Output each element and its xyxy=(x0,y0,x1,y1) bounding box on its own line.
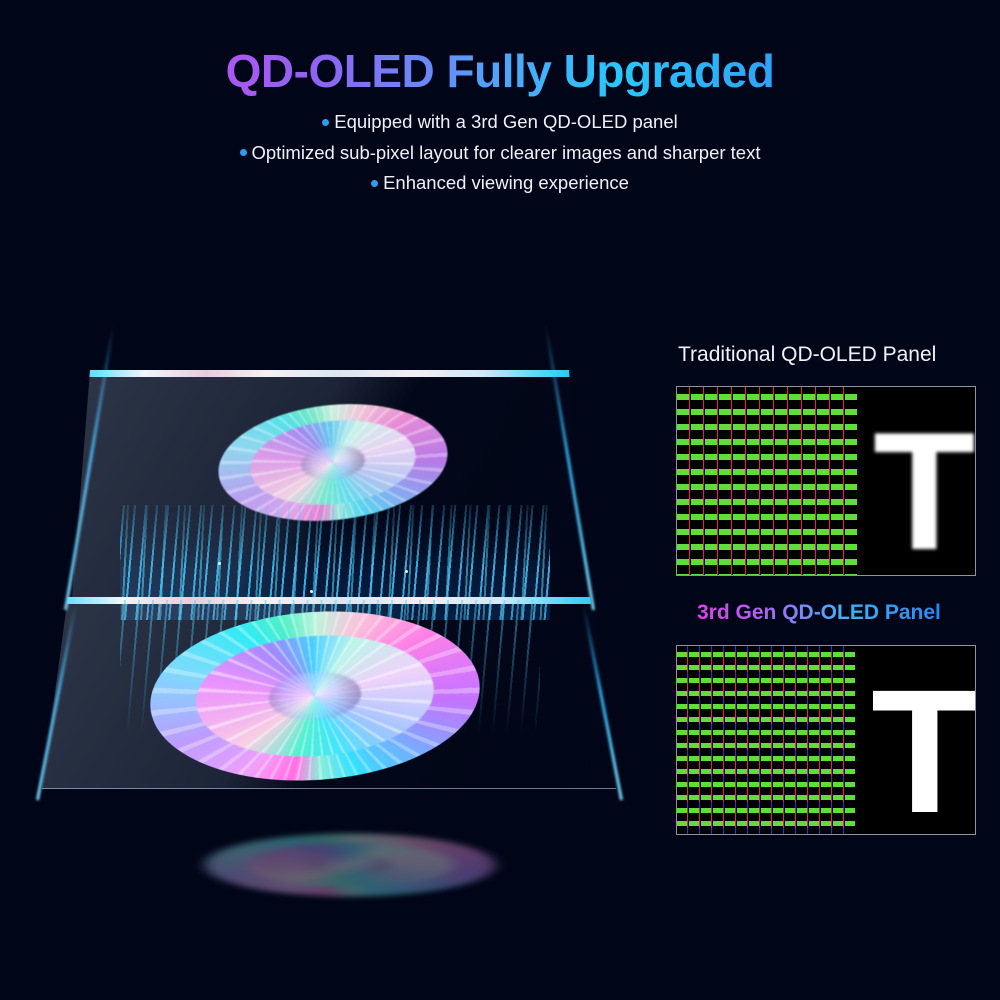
third-gen-panel-label: 3rd Gen QD-OLED Panel xyxy=(697,601,941,625)
screen-bottom-edge xyxy=(42,788,616,789)
traditional-subpixel-green-row xyxy=(677,387,857,575)
bullet-dot-icon xyxy=(322,119,329,126)
screen-top-bezel xyxy=(72,370,587,377)
traditional-panel: T xyxy=(676,386,976,576)
promo-image: QD-OLED Fully Upgraded Equipped with a 3… xyxy=(0,0,1000,1000)
header: QD-OLED Fully Upgraded Equipped with a 3… xyxy=(0,0,1000,193)
traditional-panel-label: Traditional QD-OLED Panel xyxy=(678,343,936,367)
sparkle-dot xyxy=(218,562,221,565)
feature-bullet-text: Enhanced viewing experience xyxy=(383,172,629,193)
feature-bullet: Optimized sub-pixel layout for clearer i… xyxy=(0,132,1000,163)
flower-reflection xyxy=(205,834,495,897)
monitor-illustration xyxy=(0,300,660,920)
third-gen-panel: T xyxy=(676,645,976,835)
feature-bullet: Equipped with a 3rd Gen QD-OLED panel xyxy=(0,98,1000,132)
feature-bullet-text: Equipped with a 3rd Gen QD-OLED panel xyxy=(334,111,677,132)
bullet-dot-icon xyxy=(371,180,378,187)
sparkle-dot xyxy=(310,590,313,593)
third-gen-letter-t: T xyxy=(871,664,976,835)
feature-bullet: Enhanced viewing experience xyxy=(0,162,1000,193)
bullet-dot-icon xyxy=(240,149,247,156)
third-gen-subpixel-green-row xyxy=(677,646,855,834)
sparkle-dot xyxy=(405,570,408,573)
page-title: QD-OLED Fully Upgraded xyxy=(0,0,1000,98)
feature-bullet-text: Optimized sub-pixel layout for clearer i… xyxy=(252,142,761,163)
traditional-letter-t: T xyxy=(873,407,976,575)
